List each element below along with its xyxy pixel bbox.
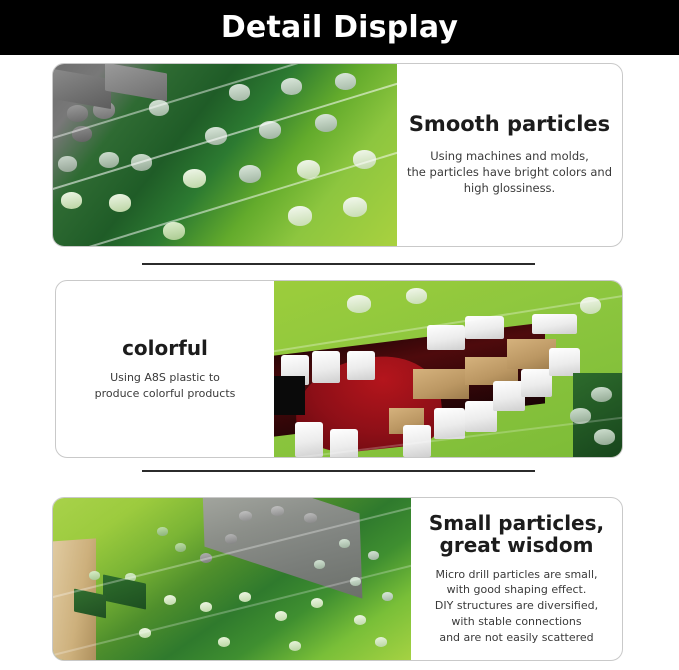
brick-studs-layer: [53, 64, 397, 246]
brick-stud: [109, 194, 131, 212]
brick-stud: [406, 288, 427, 304]
brick-block: [103, 574, 146, 609]
detail-card-smooth-particles: Smooth particles Using machines and mold…: [52, 63, 623, 247]
brick-stud: [594, 429, 615, 445]
brick-stud: [175, 543, 186, 552]
detail-display-page: Detail Display: [0, 0, 679, 670]
brick-stud: [163, 222, 185, 240]
brick-stud: [239, 165, 261, 183]
brick-stud: [315, 114, 337, 132]
brick-stud: [61, 192, 82, 209]
brick-stud: [375, 637, 387, 647]
brick-stud: [164, 595, 176, 605]
brick-block-tan: [413, 369, 469, 399]
card-body: Micro drill particles are small, with go…: [435, 567, 598, 647]
brick-stud: [335, 73, 356, 90]
brick-stud: [149, 100, 169, 116]
card-text-smooth-particles: Smooth particles Using machines and mold…: [397, 64, 622, 246]
card-heading: colorful: [122, 337, 208, 359]
section-divider-one: [142, 263, 535, 265]
brick-tooth: [312, 351, 340, 383]
header-bar: Detail Display: [0, 0, 679, 55]
brick-stud: [183, 169, 206, 188]
brick-stud: [259, 121, 281, 139]
card-text-small-particles: Small particles, great wisdom Micro dril…: [411, 498, 622, 660]
brick-stud: [311, 598, 323, 608]
brick-tooth: [434, 408, 465, 440]
brick-seam: [53, 133, 397, 246]
brick-tooth: [347, 351, 375, 379]
brick-stud: [72, 126, 92, 142]
brick-stud: [157, 527, 168, 536]
card-heading: Small particles, great wisdom: [429, 512, 604, 557]
brick-stud: [205, 127, 227, 145]
product-image-colorful: [274, 281, 622, 457]
brick-stud: [382, 592, 393, 601]
brick-stud: [67, 105, 88, 122]
brick-stud: [580, 297, 601, 315]
brick-stud: [200, 553, 212, 563]
brick-stud: [353, 150, 376, 169]
brick-stud: [591, 387, 612, 403]
brick-stud: [89, 571, 100, 580]
brick-stud: [239, 511, 252, 521]
brick-stud: [354, 615, 366, 625]
brick-stud: [289, 641, 301, 651]
product-image-smooth-particles: [53, 64, 397, 246]
brick-stud: [281, 78, 302, 95]
brick-stud: [218, 637, 230, 647]
brick-stud: [297, 160, 320, 179]
page-title: Detail Display: [221, 13, 458, 43]
brick-tooth: [465, 401, 496, 433]
brick-tooth: [493, 381, 524, 411]
brick-stud: [239, 592, 251, 602]
brick-stud: [139, 628, 151, 638]
brick-stud: [304, 513, 317, 523]
brick-stud: [225, 534, 237, 544]
card-text-colorful: colorful Using A8S plastic to produce co…: [56, 281, 274, 457]
brick-stud: [131, 154, 152, 171]
brick-studs-layer: [274, 281, 622, 457]
brick-studs-layer: [53, 498, 411, 660]
detail-card-colorful: colorful Using A8S plastic to produce co…: [55, 280, 623, 458]
brick-block: [53, 69, 111, 109]
brick-stud: [343, 197, 367, 217]
brick-stud: [200, 602, 212, 612]
card-heading: Smooth particles: [409, 113, 610, 137]
brick-stud: [570, 408, 591, 424]
brick-stud: [229, 84, 250, 101]
brick-tooth: [549, 348, 580, 376]
product-image-small-particles: [53, 498, 411, 660]
brick-tooth: [532, 314, 577, 333]
brick-stud: [288, 206, 312, 226]
brick-stud: [275, 611, 287, 621]
section-divider-two: [142, 470, 535, 472]
card-body: Using machines and molds, the particles …: [407, 148, 612, 197]
brick-stud: [368, 551, 379, 560]
brick-tooth: [295, 422, 323, 457]
brick-stud: [339, 539, 350, 548]
card-body: Using A8S plastic to produce colorful pr…: [95, 370, 236, 401]
brick-tooth: [427, 325, 465, 350]
brick-stud: [58, 156, 77, 172]
brick-stud: [347, 295, 371, 313]
brick-stud: [314, 560, 325, 569]
brick-tooth: [521, 369, 552, 397]
brick-tooth: [465, 316, 503, 339]
brick-tooth: [403, 425, 431, 457]
brick-tooth: [330, 429, 358, 457]
brick-tooth: [281, 355, 309, 385]
brick-stud: [99, 152, 119, 168]
brick-block: [105, 64, 167, 101]
detail-card-small-particles: Small particles, great wisdom Micro dril…: [52, 497, 623, 661]
